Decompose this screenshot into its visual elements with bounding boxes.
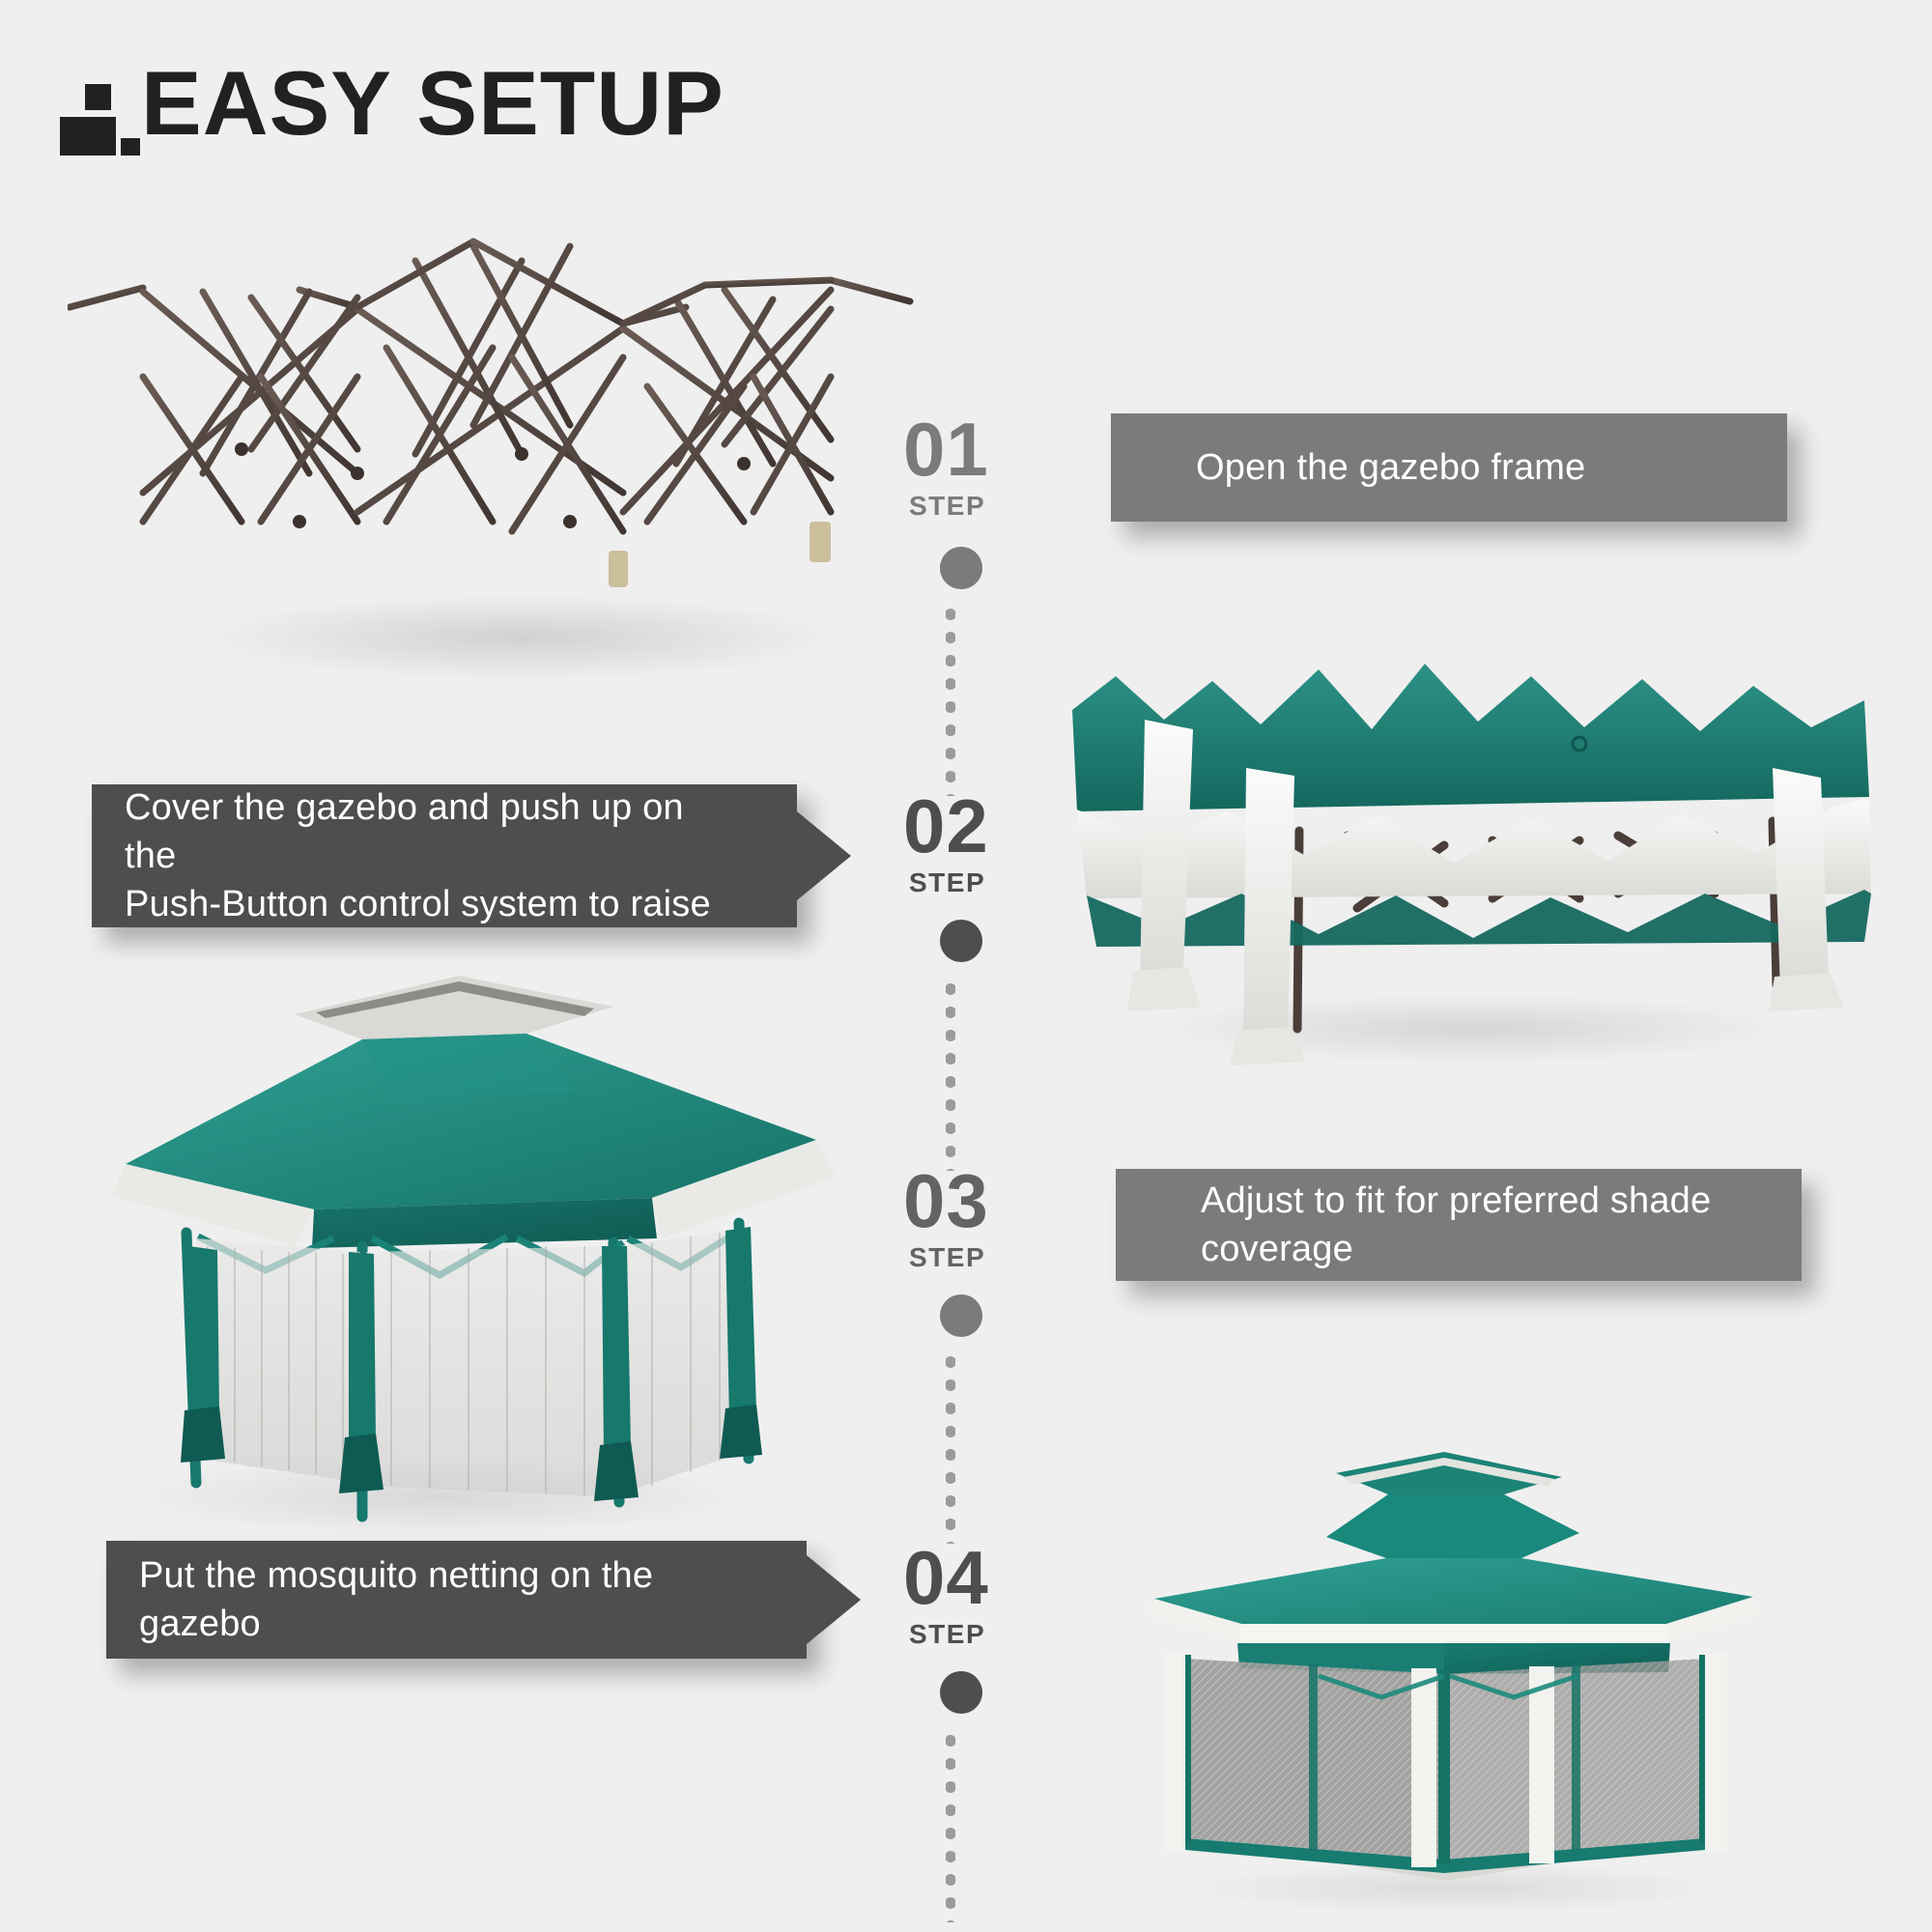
step-number-value: 02 bbox=[903, 792, 989, 862]
timeline-connector-4 bbox=[946, 1729, 955, 1922]
gazebo-frame-open-photo bbox=[68, 232, 956, 686]
step-marker-dot-02 bbox=[940, 920, 982, 962]
step-number-03: 03 STEP bbox=[903, 1167, 989, 1273]
step-callout-line-1: Cover the gazebo and push up on the bbox=[125, 783, 712, 880]
step-number-label: STEP bbox=[909, 867, 989, 898]
step-number-label: STEP bbox=[909, 1242, 989, 1273]
step-number-04: 04 STEP bbox=[903, 1544, 989, 1650]
step-number-label: STEP bbox=[909, 491, 989, 522]
step-number-label: STEP bbox=[909, 1619, 989, 1650]
step-callout-text: Put the mosquito netting on the gazebo bbox=[106, 1551, 754, 1648]
step-marker-dot-01 bbox=[940, 547, 982, 589]
step-marker-dot-03 bbox=[940, 1294, 982, 1337]
step-number-value: 04 bbox=[903, 1544, 989, 1613]
step-number-value: 01 bbox=[903, 415, 989, 485]
blocks-icon bbox=[60, 71, 116, 146]
step-number-02: 02 STEP bbox=[903, 792, 989, 898]
timeline-connector-3 bbox=[946, 1350, 955, 1544]
gazebo-raised-photo bbox=[72, 956, 874, 1555]
step-callout-text: Cover the gazebo and push up on the Push… bbox=[92, 783, 745, 928]
gazebo-with-netting-photo bbox=[1125, 1444, 1782, 1918]
step-callout-text: Open the gazebo frame bbox=[1163, 443, 1787, 492]
step-callout-01: Open the gazebo frame bbox=[1111, 413, 1787, 522]
timeline-connector-2 bbox=[946, 978, 955, 1171]
page-title: EASY SETUP bbox=[60, 60, 724, 146]
step-marker-dot-04 bbox=[940, 1671, 982, 1714]
step-callout-04: Put the mosquito netting on the gazebo bbox=[106, 1541, 807, 1659]
timeline-connector-1 bbox=[946, 603, 955, 796]
step-callout-text: Adjust to fit for preferred shade covera… bbox=[1168, 1177, 1802, 1273]
page-title-text: EASY SETUP bbox=[141, 60, 724, 146]
step-number-01: 01 STEP bbox=[903, 415, 989, 522]
step-number-value: 03 bbox=[903, 1167, 989, 1236]
step-callout-02: Cover the gazebo and push up on the Push… bbox=[92, 784, 797, 927]
step-callout-line-2: Push-Button control system to raise bbox=[125, 880, 712, 928]
gazebo-canopy-draped-photo bbox=[1038, 652, 1908, 1067]
step-callout-03: Adjust to fit for preferred shade covera… bbox=[1116, 1169, 1802, 1281]
